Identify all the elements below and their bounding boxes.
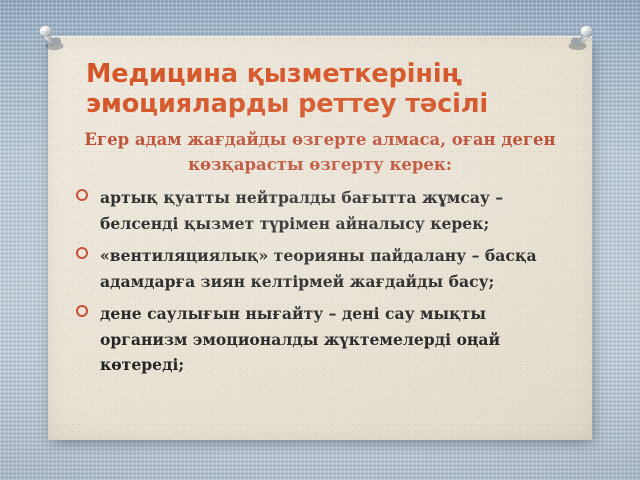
list-item: дене саулығын нығайту – дені сау мықты о… — [66, 301, 578, 378]
slide-title-line-1: Медицина қызметкерінің — [86, 59, 566, 89]
slide-subtitle: Егер адам жағдайды өзгерте алмаса, оған … — [78, 127, 562, 177]
slide-title-line-2: эмоцияларды реттеу тәсілі — [86, 89, 566, 119]
slide-subtitle-line-2: көзқарасты өзгерту керек: — [78, 152, 562, 177]
circle-bullet-icon — [76, 305, 88, 317]
circle-bullet-icon — [76, 247, 88, 259]
slide-canvas: Медицина қызметкерінің эмоцияларды ретте… — [0, 0, 640, 480]
list-item: «вентиляциялық» теорияны пайдалану – бас… — [66, 243, 578, 294]
list-item: артық қуатты нейтралды бағытта жұмсау – … — [66, 185, 578, 236]
slide-title: Медицина қызметкерінің эмоцияларды ретте… — [86, 59, 566, 119]
list-item-label: артық қуатты нейтралды бағытта жұмсау – … — [100, 185, 578, 236]
bullet-list: артық қуатты нейтралды бағытта жұмсау – … — [66, 185, 578, 385]
list-item-label: дене саулығын нығайту – дені сау мықты о… — [100, 301, 578, 378]
slide-content: Медицина қызметкерінің эмоцияларды ретте… — [48, 36, 592, 440]
circle-bullet-icon — [76, 189, 88, 201]
paper-sheet: Медицина қызметкерінің эмоцияларды ретте… — [48, 36, 592, 440]
list-item-label: «вентиляциялық» теорияны пайдалану – бас… — [100, 243, 578, 294]
slide-subtitle-line-1: Егер адам жағдайды өзгерте алмаса, оған … — [78, 127, 562, 152]
